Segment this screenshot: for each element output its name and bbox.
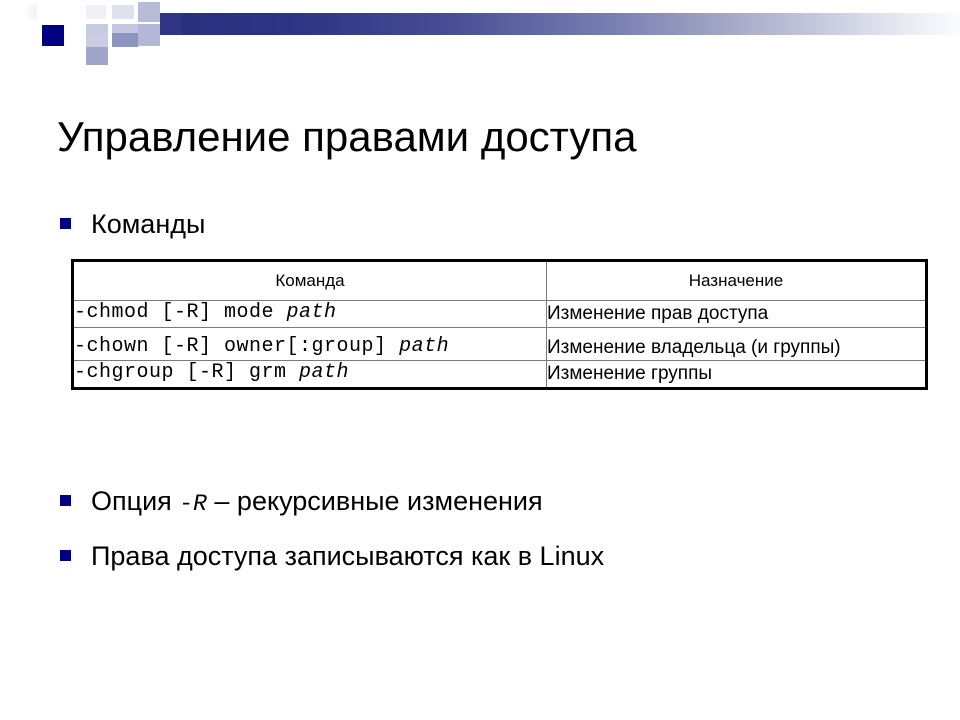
bullet-option-prefix: Опция: [91, 486, 179, 516]
deco-square-1: [42, 25, 64, 46]
deco-square-4: [112, 5, 134, 19]
command-text: -chmod [-R] mode: [74, 301, 287, 324]
table-row: -chmod [-R] mode path Изменение прав дос…: [73, 301, 927, 328]
deco-square-3: [86, 5, 106, 19]
command-path-arg: path: [399, 335, 449, 358]
bullet-option-text: Опция -R – рекурсивные изменения: [91, 487, 543, 517]
bullet-option-suffix: – рекурсивные изменения: [207, 486, 543, 516]
bullet-square-icon: [60, 495, 71, 506]
deco-square-9: [86, 33, 108, 47]
deco-square-8: [138, 24, 160, 46]
bullet-square-icon: [60, 218, 71, 229]
command-path-arg: path: [287, 301, 337, 324]
cell-description-chmod: Изменение прав доступа: [547, 301, 927, 328]
command-text: -chgroup [-R] grm: [74, 361, 299, 384]
table-header-row: Команда Назначение: [73, 261, 927, 301]
table-row: -chgroup [-R] grm path Изменение группы: [73, 361, 927, 389]
cell-command-chown: -chown [-R] owner[:group] path: [73, 327, 547, 361]
bullet-commands: Команды: [60, 210, 205, 240]
header-gradient-bar: [180, 13, 960, 35]
bullet-commands-label: Команды: [91, 210, 205, 240]
column-header-command: Команда: [73, 261, 547, 301]
bullet-option-recursive: Опция -R – рекурсивные изменения: [60, 487, 543, 517]
deco-square-12: [160, 13, 182, 35]
bullet-option-code: -R: [179, 491, 207, 517]
deco-square-10: [112, 33, 138, 47]
header-decoration: [0, 0, 960, 56]
cell-command-chmod: -chmod [-R] mode path: [73, 301, 547, 328]
commands-table: Команда Назначение -chmod [-R] mode path…: [71, 259, 928, 390]
header-left-fade: [0, 0, 42, 56]
cell-command-chgroup: -chgroup [-R] grm path: [73, 361, 547, 389]
deco-square-11: [86, 47, 108, 65]
cell-description-chgroup: Изменение группы: [547, 361, 927, 389]
table-row: -chown [-R] owner[:group] path Изменение…: [73, 327, 927, 361]
cell-description-chown: Изменение владельца (и группы): [547, 327, 927, 361]
deco-square-5: [138, 2, 160, 22]
command-text: -chown [-R] owner[:group]: [74, 335, 399, 358]
bullet-permissions: Права доступа записываются как в Linux: [60, 542, 604, 572]
bullet-permissions-label: Права доступа записываются как в Linux: [91, 542, 604, 572]
column-header-purpose: Назначение: [547, 261, 927, 301]
bullet-square-icon: [60, 550, 71, 561]
command-path-arg: path: [299, 361, 349, 384]
page-title: Управление правами доступа: [57, 114, 917, 160]
